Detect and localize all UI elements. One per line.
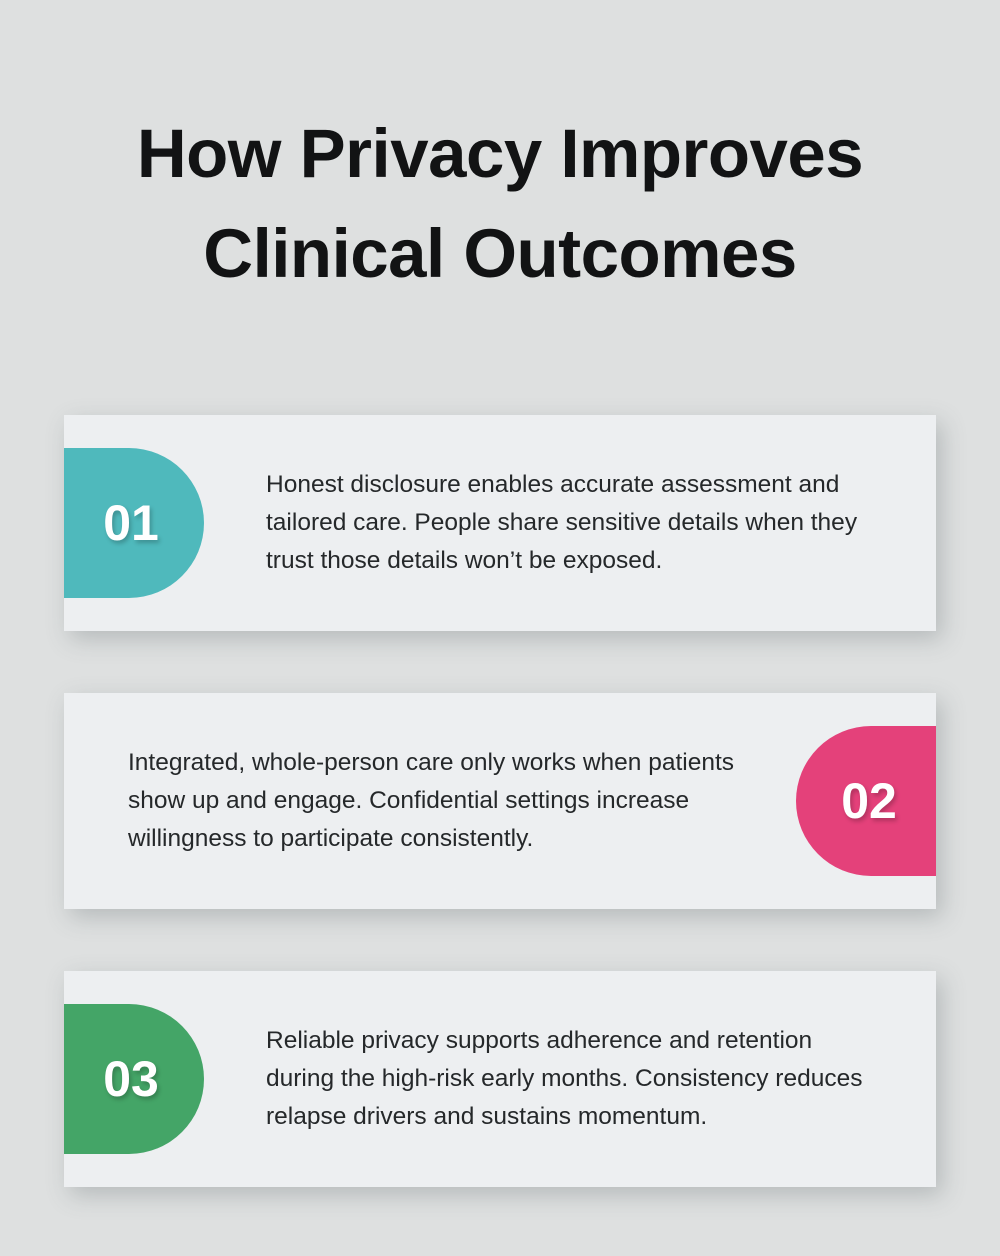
card-list: 01 Honest disclosure enables accurate as…: [64, 415, 936, 1187]
card-content-row: 03 Reliable privacy supports adherence a…: [64, 971, 936, 1187]
card-description: Honest disclosure enables accurate asses…: [204, 462, 936, 584]
page-title-line-1: How Privacy Improves: [60, 104, 940, 204]
step-number-badge: 01: [64, 448, 204, 598]
list-item: 02 Integrated, whole-person care only wo…: [64, 693, 936, 909]
list-item: 03 Reliable privacy supports adherence a…: [64, 971, 936, 1187]
infographic-page: How Privacy Improves Clinical Outcomes 0…: [0, 0, 1000, 1256]
card-content-row: 01 Honest disclosure enables accurate as…: [64, 415, 936, 631]
card-description: Reliable privacy supports adherence and …: [204, 1018, 936, 1140]
page-title-line-2: Clinical Outcomes: [60, 204, 940, 304]
list-item: 01 Honest disclosure enables accurate as…: [64, 415, 936, 631]
step-number-label: 01: [103, 498, 159, 548]
page-title: How Privacy Improves Clinical Outcomes: [0, 104, 1000, 304]
card-content-row: 02 Integrated, whole-person care only wo…: [64, 693, 936, 909]
step-number-badge: 03: [64, 1004, 204, 1154]
step-number-label: 02: [841, 776, 897, 826]
step-number-badge: 02: [796, 726, 936, 876]
card-description: Integrated, whole-person care only works…: [64, 740, 796, 862]
step-number-label: 03: [103, 1054, 159, 1104]
